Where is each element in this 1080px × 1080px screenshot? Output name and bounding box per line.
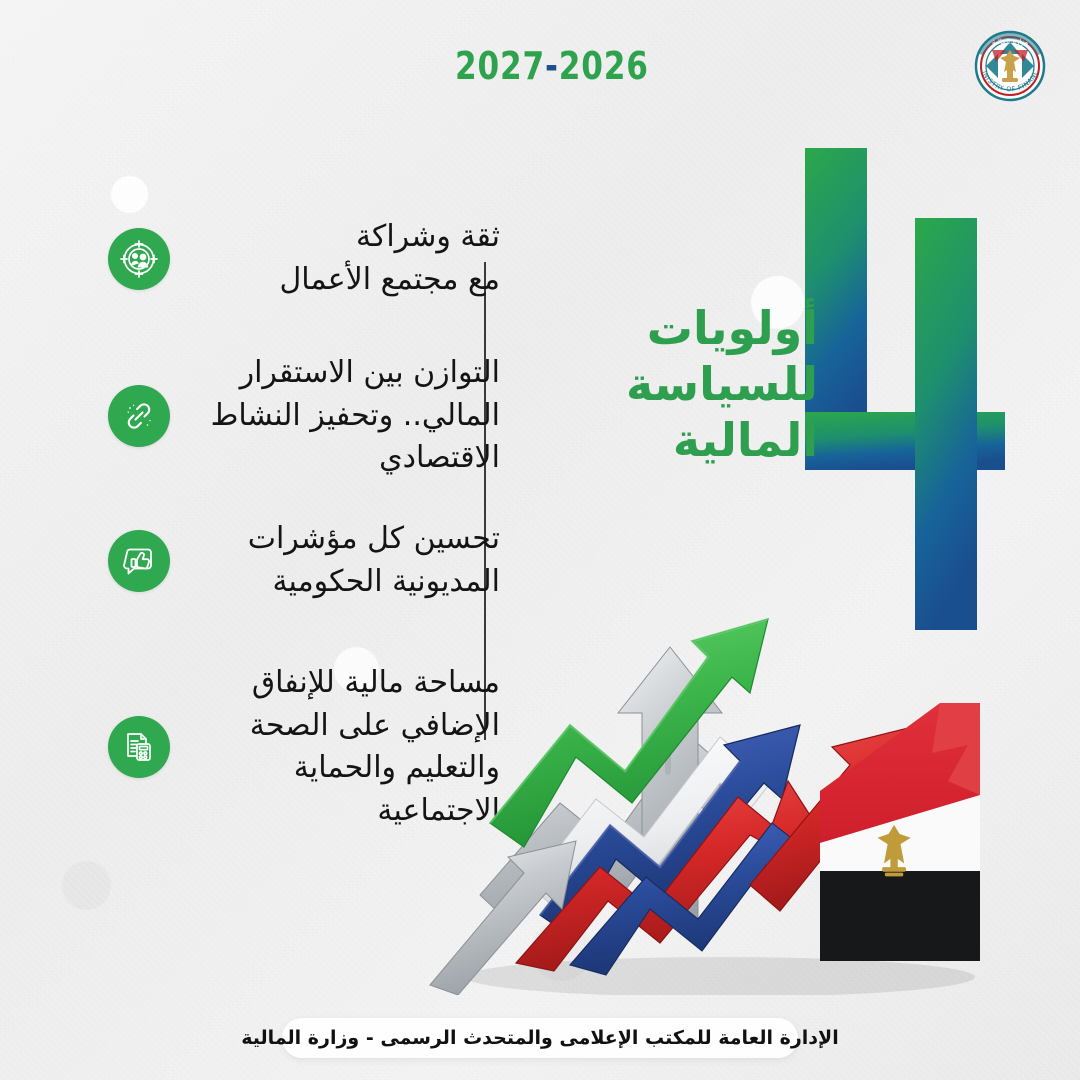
priority-1-text: ثقة وشراكة مع مجتمع الأعمال [170, 216, 500, 301]
infographic-canvas: 2027-2026 وزارة المالية MINISTRY OF FINA… [0, 0, 1080, 1080]
footer-credit-pill: الإدارة العامة للمكتب الإعلامى والمتحدث … [282, 1018, 798, 1058]
artwork-svg [420, 585, 1010, 995]
priority-1-line-1: ثقة وشراكة [196, 216, 500, 259]
numeral-four-shape [795, 140, 1030, 640]
priority-2-line-3: الاقتصادي [196, 437, 500, 480]
thumbs-up-bubble-icon[interactable] [108, 530, 170, 592]
document-calculator-icon[interactable] [108, 716, 170, 778]
page-title: أولويات للسياسة المالية [588, 300, 818, 468]
priority-3-line-1: تحسين كل مؤشرات [196, 518, 500, 561]
headline-line-3: المالية [588, 412, 818, 468]
target-people-icon[interactable] [108, 228, 170, 290]
priority-2-line-2: المالي.. وتحفيز النشاط [196, 395, 500, 438]
priority-2-line-1: التوازن بين الاستقرار [196, 352, 500, 395]
priority-2-text: التوازن بين الاستقرار المالي.. وتحفيز ال… [170, 352, 500, 480]
footer-credit-text: الإدارة العامة للمكتب الإعلامى والمتحدث … [241, 1027, 838, 1049]
priority-1-line-2: مع مجتمع الأعمال [196, 259, 500, 302]
priority-count-numeral [795, 140, 1030, 640]
chain-link-icon[interactable] [108, 385, 170, 447]
logo-emblem-icon: وزارة المالية MINISTRY OF FINANCE [966, 20, 1054, 108]
year-separator: - [545, 44, 559, 88]
year-end: 2026 [559, 44, 649, 88]
priority-item-2[interactable]: التوازن بين الاستقرار المالي.. وتحفيز ال… [108, 352, 500, 480]
year-start: 2027 [455, 44, 545, 88]
priority-item-1[interactable]: ثقة وشراكة مع مجتمع الأعمال [108, 216, 500, 301]
headline-line-2: للسياسة [588, 356, 818, 412]
logo-caption-ar: وزارة المالية [992, 38, 1028, 46]
fiscal-year-badge: 2027-2026 [455, 44, 649, 88]
headline-line-1: أولويات [588, 300, 818, 356]
ministry-of-finance-logo: وزارة المالية MINISTRY OF FINANCE [966, 20, 1054, 108]
egypt-flag [820, 703, 980, 961]
growth-arrows-egypt-flag-artwork [420, 585, 1010, 995]
